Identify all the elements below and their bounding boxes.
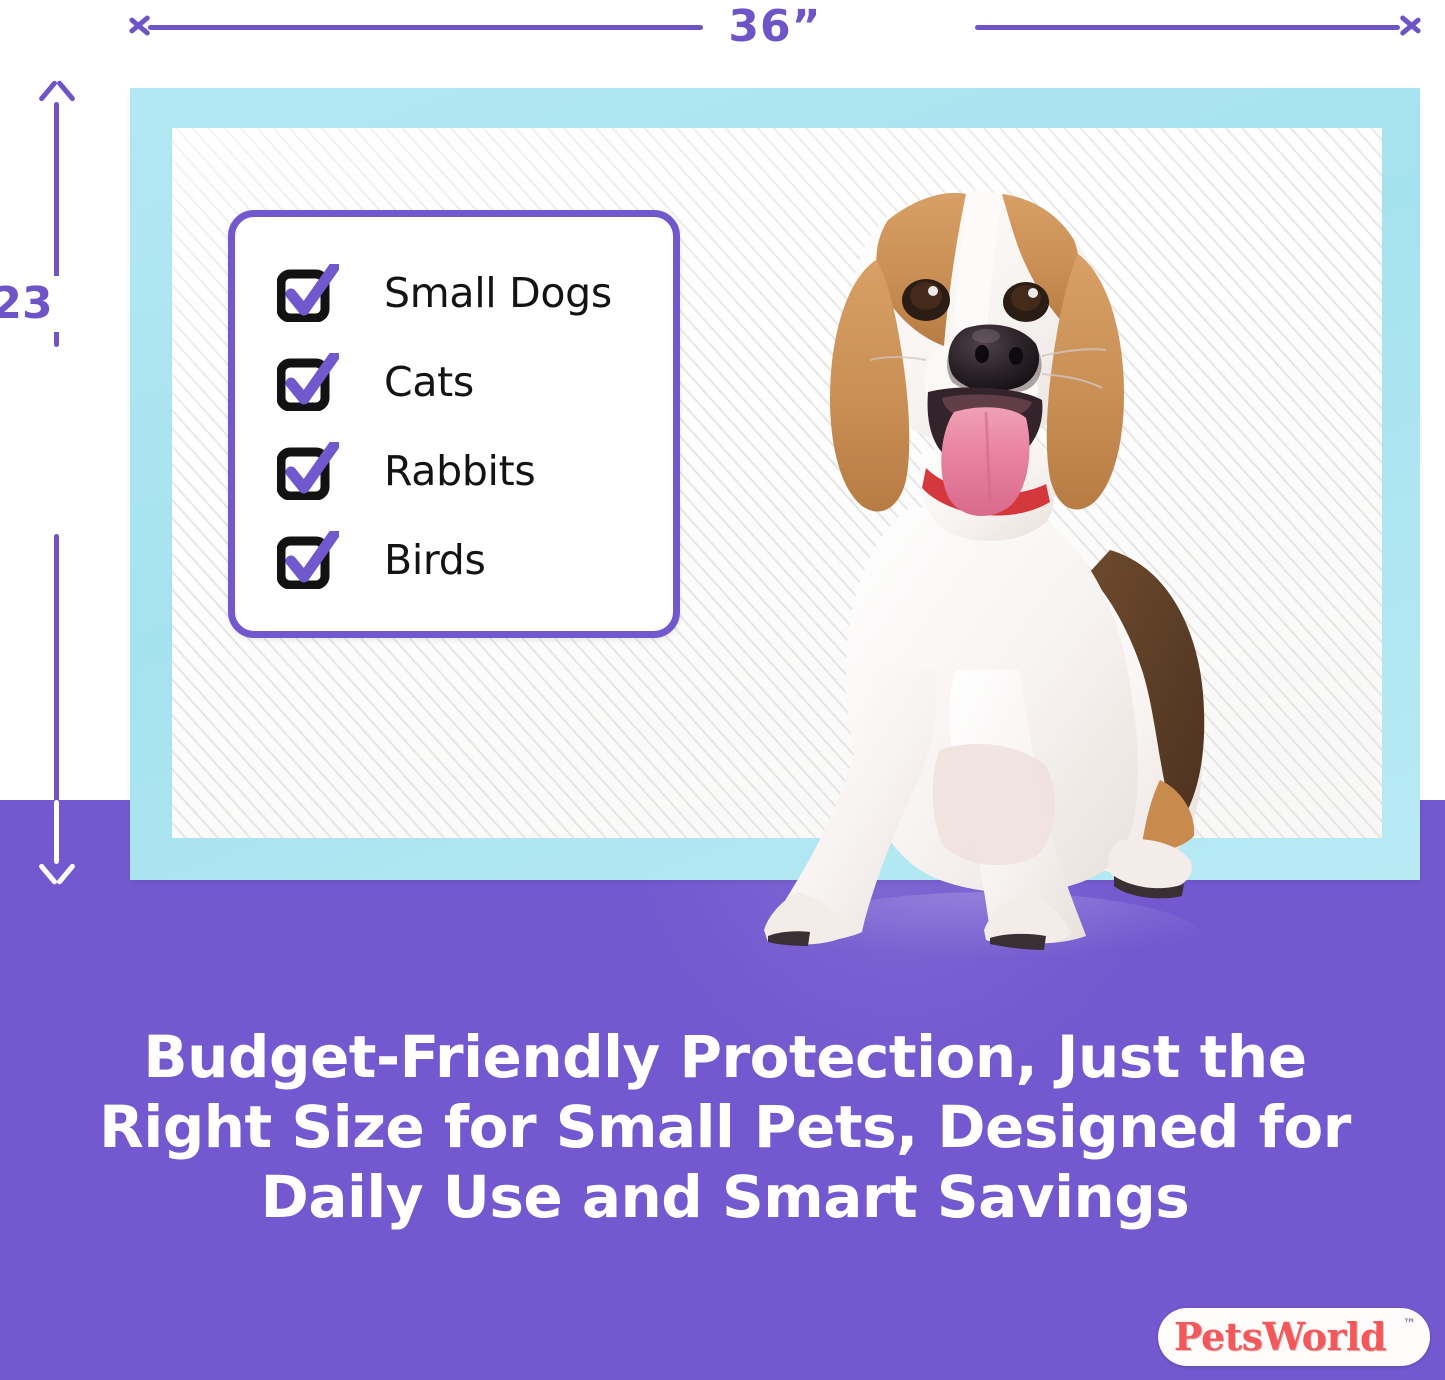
list-item: Cats	[277, 352, 474, 412]
headline-line-2: Right Size for Small Pets, Designed for	[60, 1092, 1390, 1162]
arrow-down-icon	[40, 856, 74, 882]
width-dimension-arrow: 36”	[130, 6, 1420, 48]
brand-logo: PetsWorld ™	[1158, 1308, 1430, 1366]
compatible-pets-checklist: Small Dogs Cats Rabbits	[228, 210, 680, 638]
list-item: Rabbits	[277, 441, 536, 501]
headline-line-1: Budget-Friendly Protection, Just the	[60, 1022, 1390, 1092]
dimension-line-bottom-overlay	[54, 800, 59, 864]
list-item-label: Small Dogs	[384, 269, 612, 317]
headline-line-3: Daily Use and Smart Savings	[60, 1162, 1390, 1232]
list-item: Small Dogs	[277, 263, 612, 323]
list-item-label: Cats	[384, 358, 474, 406]
marketing-headline: Budget-Friendly Protection, Just the Rig…	[60, 1022, 1390, 1232]
checkbox-checked-icon	[277, 442, 339, 500]
list-item-label: Birds	[384, 536, 486, 584]
checkbox-checked-icon	[277, 531, 339, 589]
beagle-dog-photo	[690, 150, 1310, 1000]
product-infographic: Small Dogs Cats Rabbits	[0, 0, 1445, 1380]
list-item-label: Rabbits	[384, 447, 536, 495]
list-item: Birds	[277, 530, 486, 590]
dimension-line-bottom	[54, 534, 59, 824]
width-dimension-label: 36”	[130, 0, 1420, 54]
height-dimension-arrow	[36, 84, 78, 884]
height-dimension-label: 23	[0, 276, 68, 332]
trademark-symbol: ™	[1403, 1317, 1416, 1332]
checkbox-checked-icon	[277, 353, 339, 411]
brand-name: PetsWorld	[1158, 1308, 1402, 1366]
checkbox-checked-icon	[277, 264, 339, 322]
